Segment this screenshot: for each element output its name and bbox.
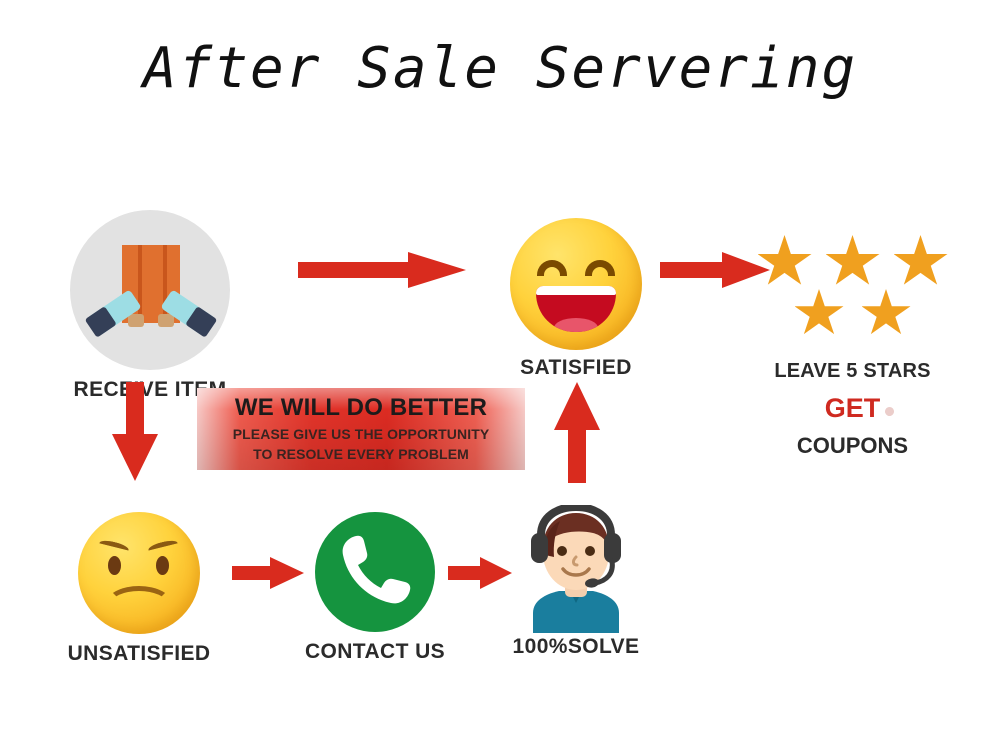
- hand-fingers-left: [128, 314, 144, 327]
- tongue: [554, 318, 598, 332]
- star-icon: [862, 289, 911, 338]
- poster-canvas: After Sale Servering RECEIVE ITEM SATISF…: [0, 0, 1000, 750]
- telephone-icon: [315, 512, 435, 632]
- flow-node-contact-us: CONTACT US: [315, 512, 435, 632]
- star-icon: [758, 235, 812, 289]
- we-will-do-better-banner: WE WILL DO BETTER PLEASE GIVE US THE OPP…: [197, 388, 525, 470]
- banner-title: WE WILL DO BETTER: [197, 394, 525, 422]
- star-row-top: [745, 235, 960, 289]
- eyebrow-left: [98, 539, 129, 555]
- solve-label: 100%SOLVE: [513, 635, 640, 659]
- banner-subtitle-line-1: PLEASE GIVE US THE OPPORTUNITY: [197, 426, 525, 442]
- flow-node-receive-item: RECEIVE ITEM: [70, 210, 230, 370]
- arrow-unsatisfied-to-contact: [232, 555, 306, 591]
- arrow-solve-to-satisfied: [552, 382, 602, 484]
- frown-mouth: [106, 586, 172, 622]
- arrow-receive-to-satisfied: [298, 248, 468, 292]
- smiling-face-icon: [510, 218, 642, 350]
- arrow-contact-to-solve: [448, 555, 514, 591]
- sad-eye-left: [108, 556, 121, 575]
- support-agent-icon: [515, 505, 637, 633]
- flow-node-satisfied: SATISFIED: [510, 218, 642, 350]
- satisfied-label: SATISFIED: [520, 356, 632, 380]
- phone-handset-glyph: [336, 532, 414, 612]
- frowning-face-icon: [78, 512, 200, 634]
- package-seam-left: [138, 245, 142, 323]
- hand-right: [160, 289, 215, 336]
- unsatisfied-label: UNSATISFIED: [68, 642, 211, 666]
- package-in-hands-icon: [70, 210, 230, 370]
- page-title: After Sale Servering: [0, 36, 1000, 101]
- flow-node-100-percent-solve: 100%SOLVE: [515, 505, 637, 633]
- hand-left: [86, 289, 141, 336]
- eyebrow-right: [147, 539, 178, 555]
- star-row-bottom: [745, 289, 960, 338]
- smile-eye-left: [537, 260, 567, 276]
- star-icon: [894, 235, 948, 289]
- hand-fingers-right: [158, 314, 174, 327]
- coupons-label: COUPONS: [745, 433, 960, 459]
- sleeve-left: [85, 306, 117, 338]
- get-label: GET: [745, 393, 960, 424]
- star-icon: [795, 289, 844, 338]
- flow-node-unsatisfied: UNSATISFIED: [78, 512, 200, 634]
- open-laughing-mouth: [536, 286, 616, 332]
- sad-eye-right: [156, 556, 169, 575]
- sleeve-right: [185, 306, 217, 338]
- star-icon: [826, 235, 880, 289]
- flow-node-leave-5-stars: LEAVE 5 STARS GET COUPONS: [745, 235, 960, 465]
- upper-teeth: [536, 286, 616, 295]
- contact-us-label: CONTACT US: [305, 640, 445, 664]
- smile-eye-right: [585, 260, 615, 276]
- arrow-receive-to-unsatisfied: [110, 382, 160, 482]
- leave-5-stars-label: LEAVE 5 STARS: [745, 360, 960, 383]
- banner-subtitle-line-2: TO RESOLVE EVERY PROBLEM: [197, 446, 525, 462]
